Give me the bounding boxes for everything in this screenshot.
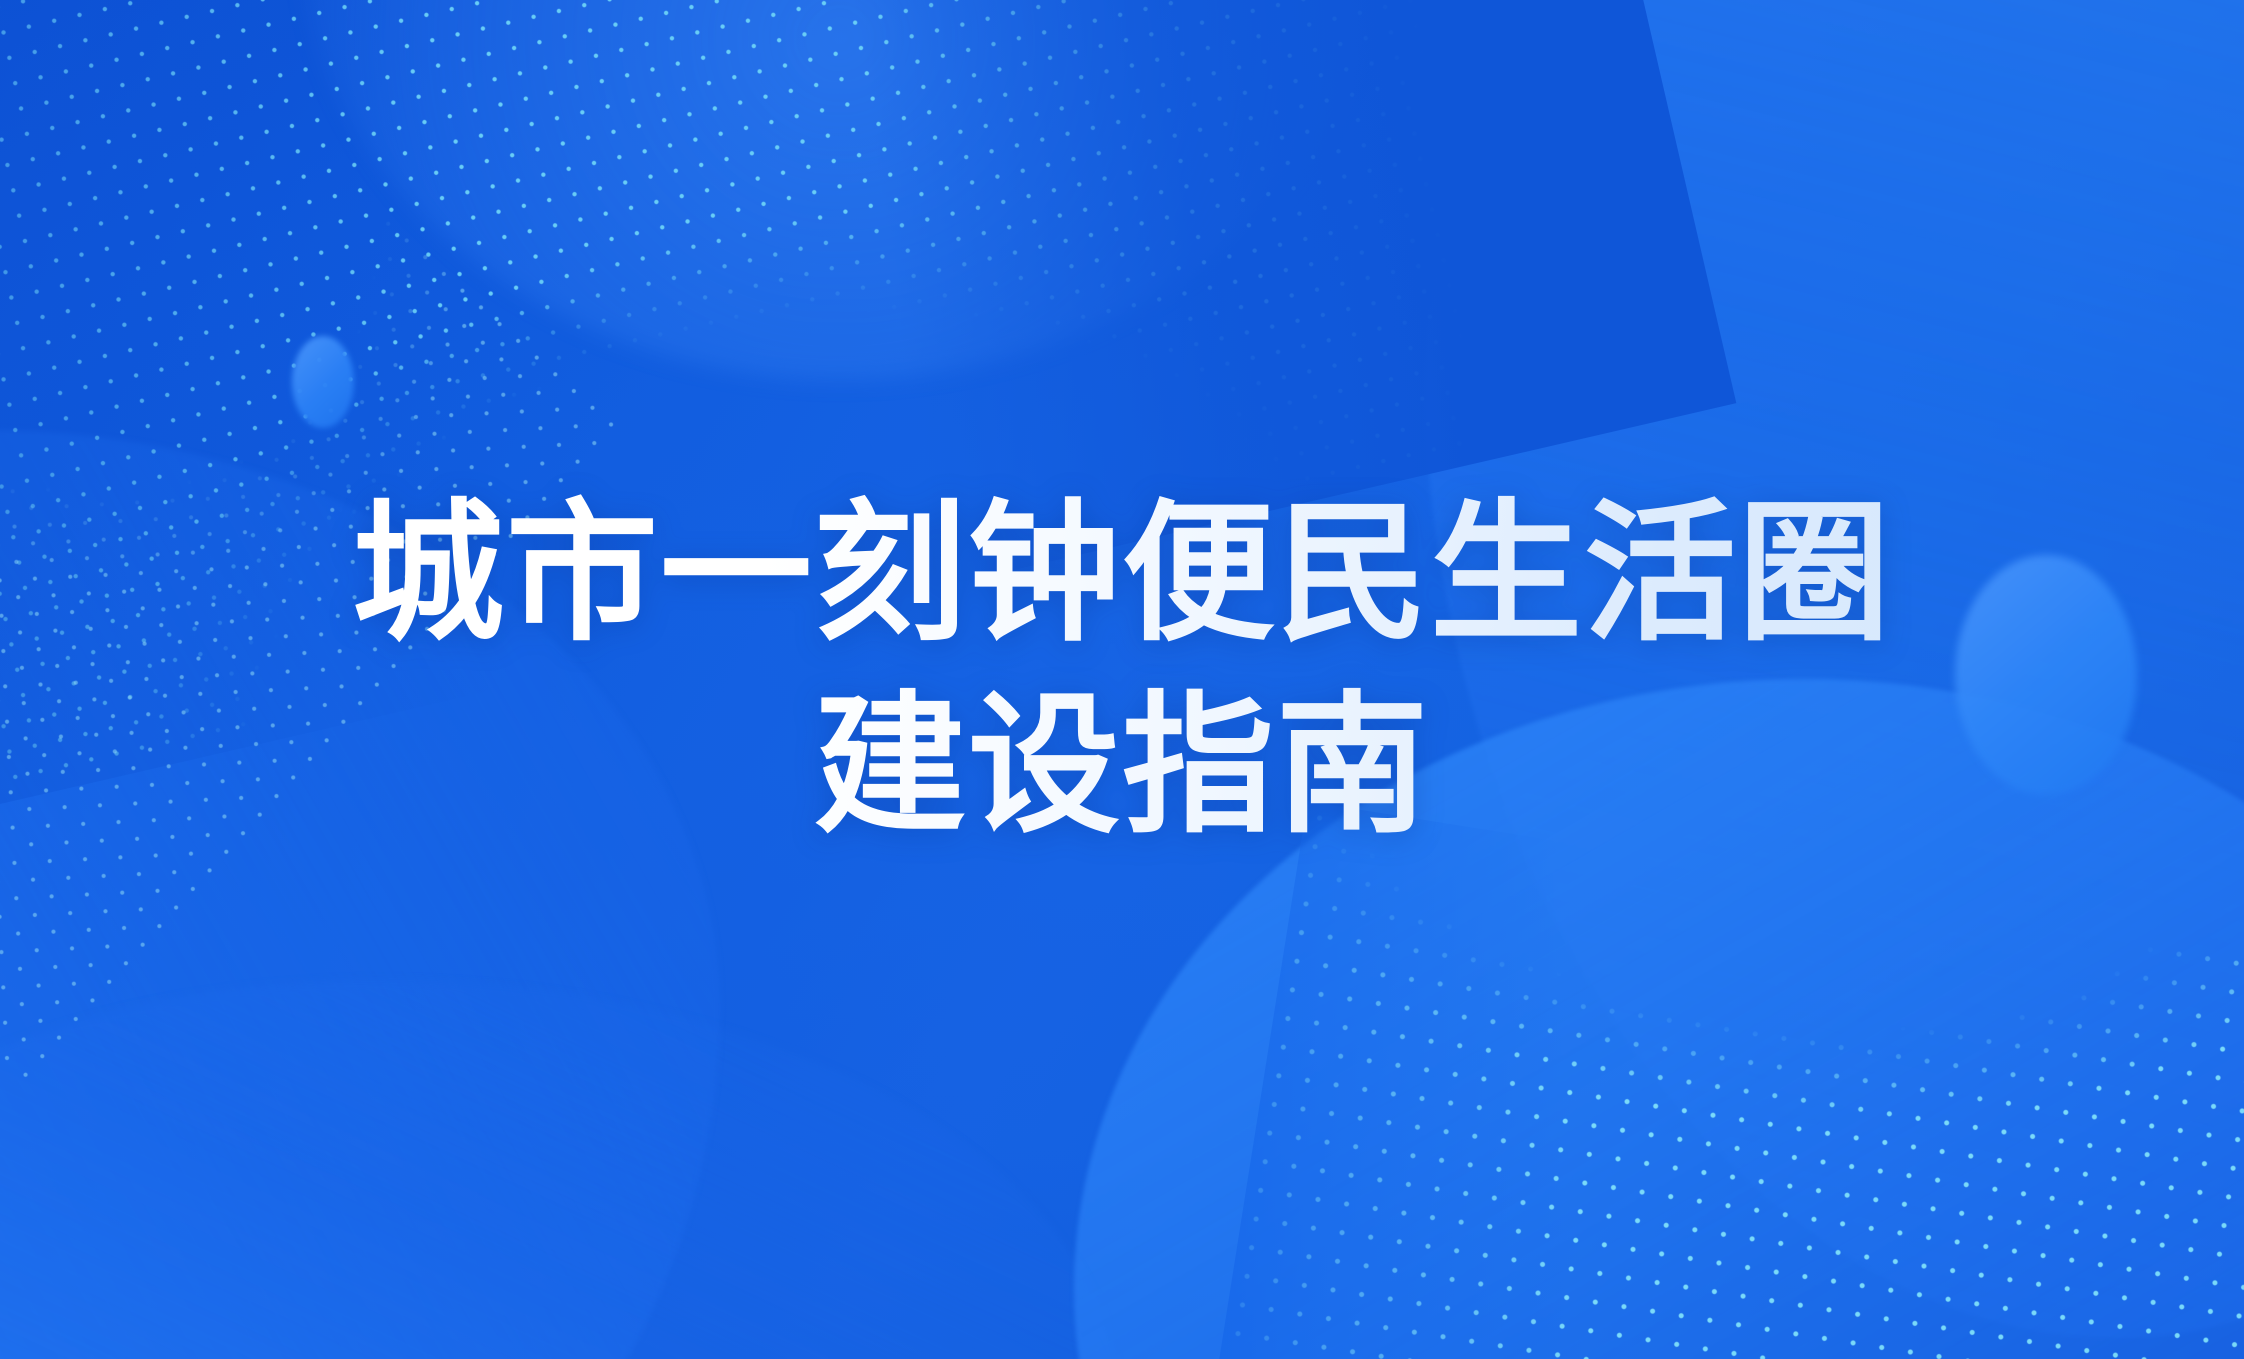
banner-title-line-2: 建设指南 (0, 680, 2244, 852)
banner-title-line-1: 城市一刻钟便民生活圈 (0, 488, 2244, 660)
banner-canvas: 城市一刻钟便民生活圈 建设指南 (0, 0, 2244, 1359)
banner-title: 城市一刻钟便民生活圈 建设指南 (0, 488, 2244, 852)
